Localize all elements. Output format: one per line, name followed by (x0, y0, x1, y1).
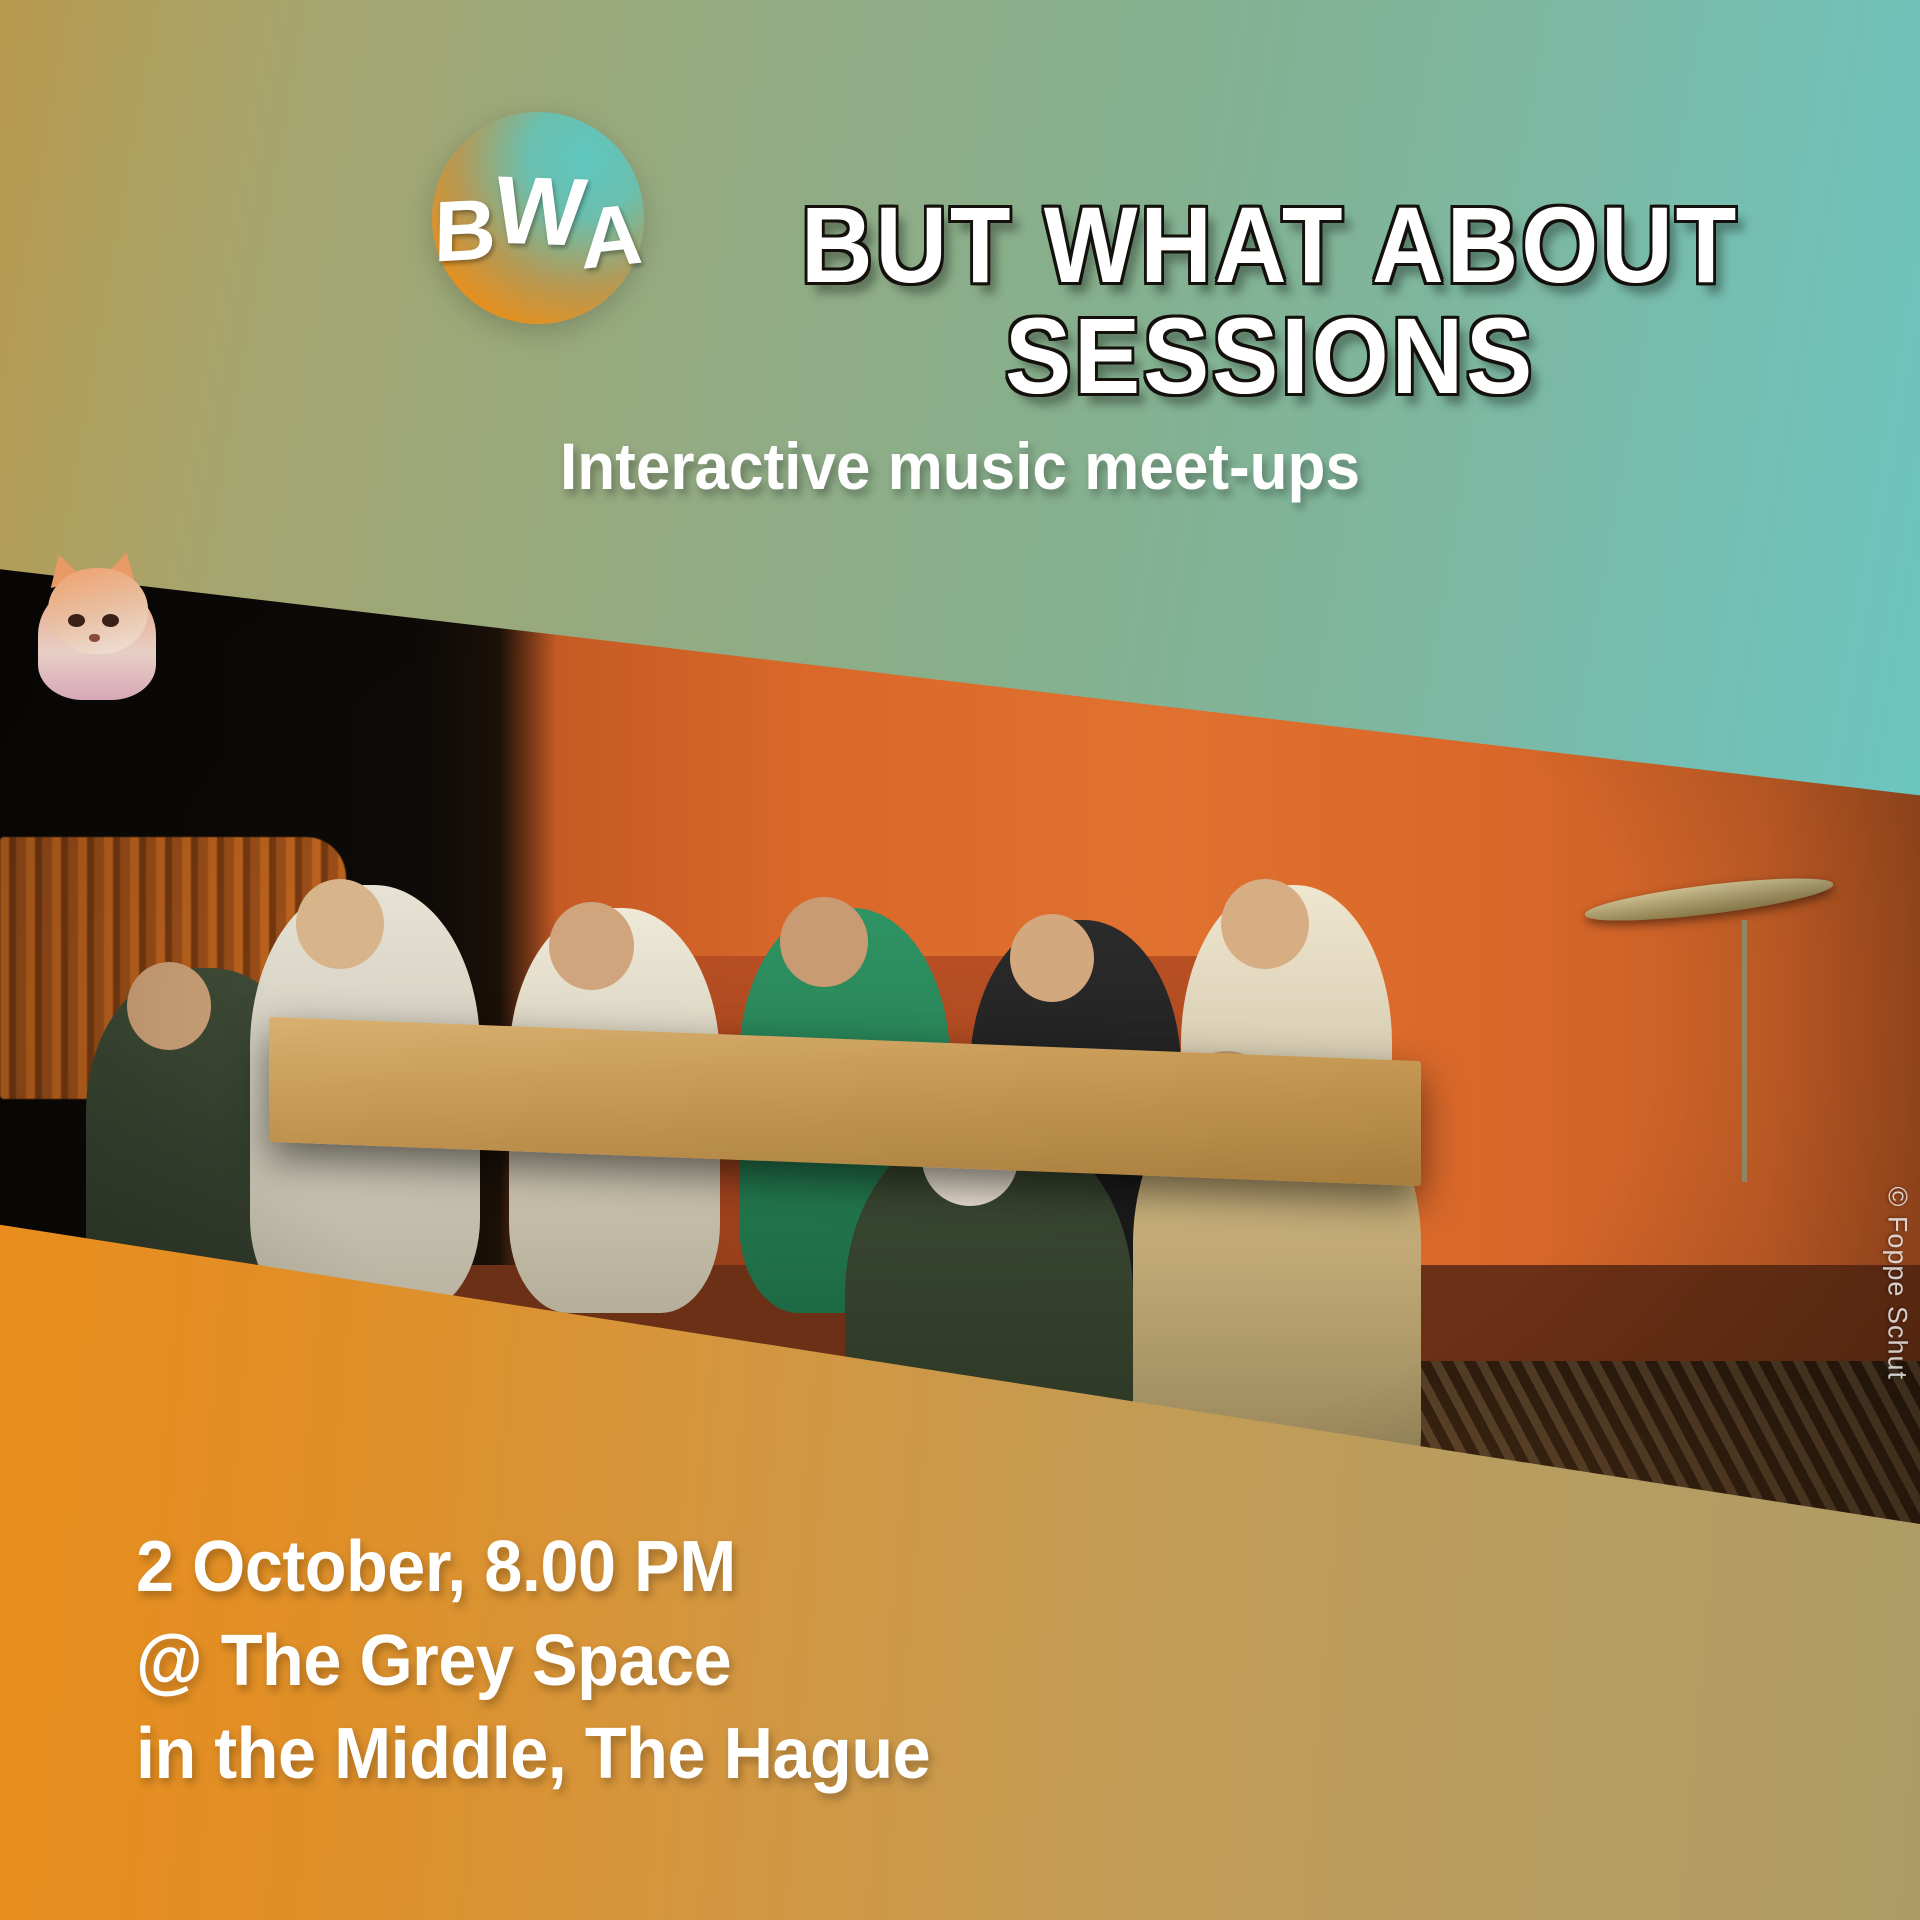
cat-eye-right (102, 614, 119, 627)
event-venue-line-1: @ The Grey Space (136, 1615, 930, 1709)
page-subtitle: Interactive music meet-ups (58, 428, 1863, 504)
event-info: 2 October, 8.00 PM @ The Grey Space in t… (136, 1521, 930, 1802)
cat-icon (32, 510, 162, 700)
cat-eye-left (68, 614, 85, 627)
photo-credit: © Foppe Schut (1881, 1187, 1912, 1381)
poster-canvas: © Foppe Schut BWA BUT WHAT ABOUTSESSIONS… (0, 0, 1920, 1920)
event-date-time: 2 October, 8.00 PM (136, 1521, 930, 1615)
logo-letter-w: W (490, 163, 587, 262)
title-line-1: BUT WHAT ABOUT (801, 184, 1739, 305)
cat-head (48, 568, 148, 654)
cat-nose (89, 634, 100, 642)
page-title: BUT WHAT ABOUTSESSIONS (727, 190, 1813, 410)
event-venue-line-2: in the Middle, The Hague (136, 1708, 930, 1802)
logo-letter-b: B (433, 187, 494, 276)
bwa-logo: BWA (432, 112, 644, 324)
title-line-2: SESSIONS (727, 301, 1813, 411)
logo-letter-a: A (579, 191, 641, 283)
bwa-logo-text: BWA (432, 170, 645, 266)
